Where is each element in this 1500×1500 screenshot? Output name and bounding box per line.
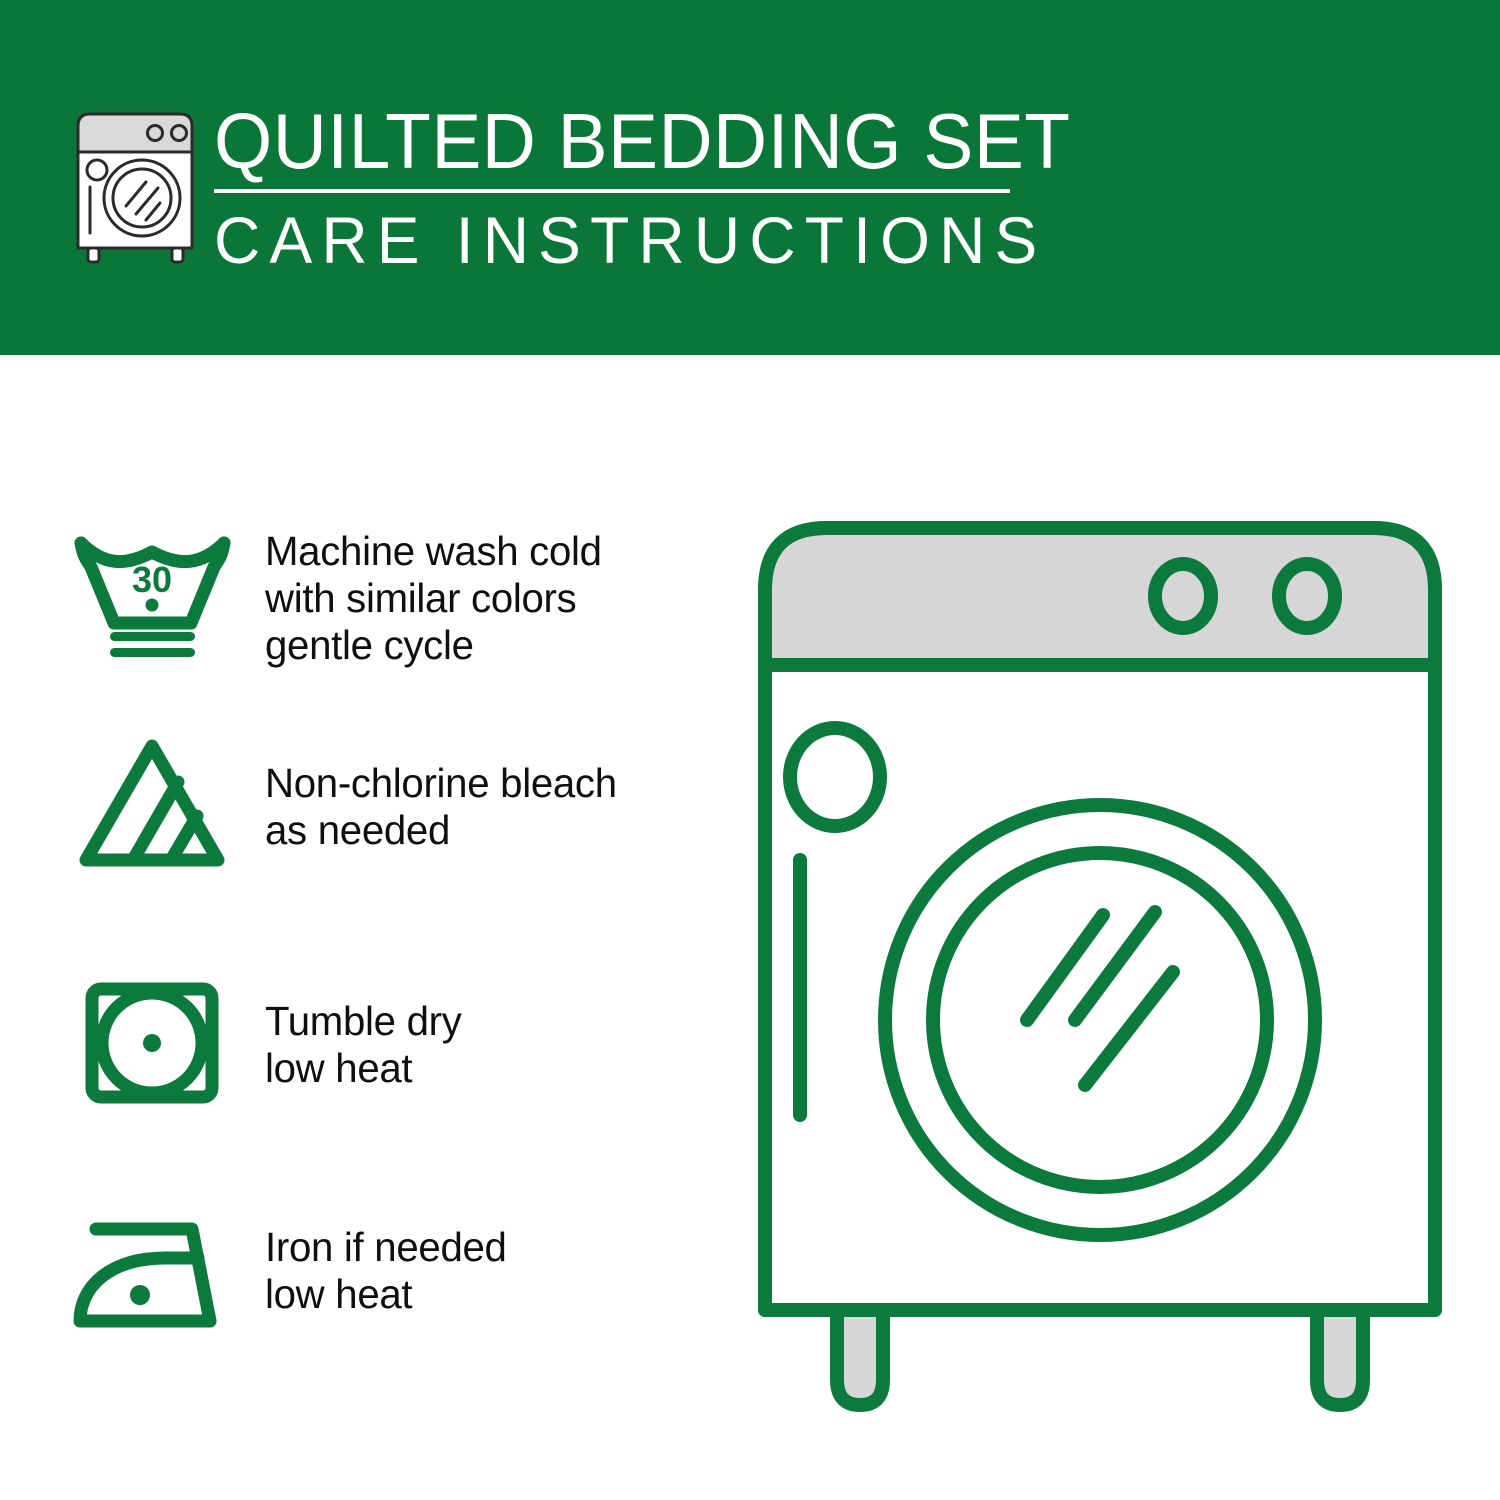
header-band: QUILTED BEDDING SET CARE INSTRUCTIONS bbox=[0, 0, 1500, 355]
wash-tub-30-icon: 30 bbox=[70, 520, 235, 665]
page-title: QUILTED BEDDING SET bbox=[214, 100, 1011, 182]
care-item-bleach: Non-chlorine bleach as needed bbox=[70, 730, 710, 875]
detergent-circle bbox=[790, 728, 880, 826]
header-text-block: QUILTED BEDDING SET CARE INSTRUCTIONS bbox=[214, 100, 1044, 275]
care-item-label: Tumble dry low heat bbox=[265, 970, 462, 1092]
door-inner-ring bbox=[933, 853, 1267, 1187]
iron-low-heat-icon bbox=[70, 1200, 235, 1345]
care-item-label: Non-chlorine bleach as needed bbox=[265, 730, 617, 854]
wash-temperature-label: 30 bbox=[132, 559, 172, 600]
care-item-label: Machine wash cold with similar colors ge… bbox=[265, 520, 602, 669]
care-symbol-list: 30 Machine wash cold with similar colors… bbox=[0, 355, 720, 1500]
leg-right bbox=[1317, 1310, 1363, 1405]
front-load-washing-machine-illustration bbox=[745, 500, 1455, 1420]
washing-machine-icon bbox=[62, 106, 212, 264]
knob-2 bbox=[1279, 564, 1335, 628]
knob-1 bbox=[1155, 564, 1211, 628]
care-item-machine-wash: 30 Machine wash cold with similar colors… bbox=[70, 520, 710, 669]
non-chlorine-bleach-triangle-icon bbox=[70, 730, 235, 875]
care-item-label: Iron if needed low heat bbox=[265, 1200, 507, 1318]
page-subtitle: CARE INSTRUCTIONS bbox=[214, 205, 1019, 275]
title-divider bbox=[214, 189, 1010, 193]
care-instructions-page: QUILTED BEDDING SET CARE INSTRUCTIONS bbox=[0, 0, 1500, 1500]
care-item-iron: Iron if needed low heat bbox=[70, 1200, 710, 1345]
care-item-tumble-dry: Tumble dry low heat bbox=[70, 970, 710, 1115]
leg-left bbox=[837, 1310, 883, 1405]
tumble-dry-low-icon bbox=[70, 970, 235, 1115]
